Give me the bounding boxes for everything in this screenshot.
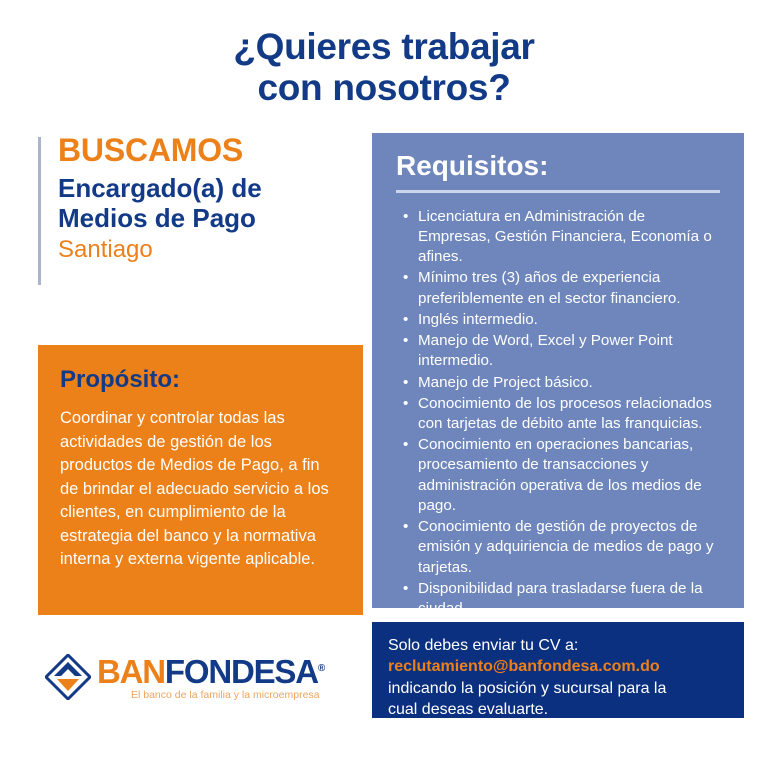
vertical-accent-rule xyxy=(38,137,41,285)
requirements-list: Licenciatura en Administración de Empres… xyxy=(396,207,720,619)
requirements-divider xyxy=(396,190,720,193)
list-item: Manejo de Word, Excel y Power Point inte… xyxy=(418,331,720,371)
purpose-heading: Propósito: xyxy=(60,367,339,393)
registered-trademark-icon: ® xyxy=(318,663,325,674)
cv-instruction-line-4: cual deseas evaluarte. xyxy=(388,699,728,720)
list-item: Mínimo tres (3) años de experiencia pref… xyxy=(418,268,720,308)
job-title-block: BUSCAMOS Encargado(a) de Medios de Pago … xyxy=(38,133,364,283)
list-item: Disponibilidad para trasladarse fuera de… xyxy=(418,579,720,619)
seeking-label: BUSCAMOS xyxy=(58,133,364,169)
logo-tagline: El banco de la familia y la microempresa xyxy=(131,690,320,701)
diamond-logo-icon xyxy=(45,654,91,700)
banfondesa-logo: BANFONDESA® El banco de la familia y la … xyxy=(45,650,305,710)
list-item: Conocimiento de gestión de proyectos de … xyxy=(418,517,720,578)
job-position-title-line-2: Medios de Pago xyxy=(58,203,364,233)
job-location: Santiago xyxy=(58,236,364,265)
recruitment-email-link[interactable]: reclutamiento@banfondesa.com.do xyxy=(388,656,728,677)
cv-instruction-line-3: indicando la posición y sucursal para la xyxy=(388,678,728,699)
requirements-heading: Requisitos: xyxy=(396,151,720,182)
list-item: Licenciatura en Administración de Empres… xyxy=(418,207,720,268)
list-item: Conocimiento en operaciones bancarias, p… xyxy=(418,435,720,516)
page-title: ¿Quieres trabajar con nosotros? xyxy=(0,26,768,109)
purpose-text: Coordinar y controlar todas las activida… xyxy=(60,407,339,571)
job-position-title-line-1: Encargado(a) de xyxy=(58,173,364,203)
page-title-line-1: ¿Quieres trabajar xyxy=(0,26,768,67)
job-summary-column: BUSCAMOS Encargado(a) de Medios de Pago … xyxy=(38,133,364,283)
logo-wordmark-ban: BAN xyxy=(97,653,165,690)
list-item: Inglés intermedio. xyxy=(418,310,720,330)
requirements-panel: Requisitos: Licenciatura en Administraci… xyxy=(372,133,744,608)
logo-wordmark-fondesa: FONDESA xyxy=(165,653,318,690)
page-title-line-2: con nosotros? xyxy=(0,67,768,108)
job-position-title: Encargado(a) de Medios de Pago xyxy=(58,173,364,233)
application-instructions-panel: Solo debes enviar tu CV a: reclutamiento… xyxy=(372,622,744,718)
list-item: Conocimiento de los procesos relacionado… xyxy=(418,394,720,434)
list-item: Manejo de Project básico. xyxy=(418,373,720,393)
cv-instruction-line-1: Solo debes enviar tu CV a: xyxy=(388,635,728,656)
logo-wordmark: BANFONDESA® xyxy=(97,655,325,688)
purpose-panel: Propósito: Coordinar y controlar todas l… xyxy=(38,345,363,615)
